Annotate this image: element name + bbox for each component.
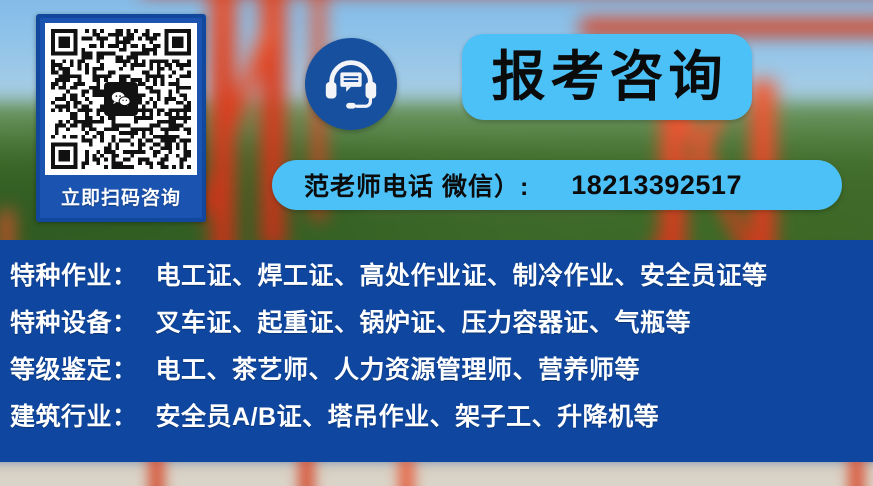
crane-beam bbox=[0, 210, 13, 240]
category-label: 特种作业： bbox=[10, 256, 138, 292]
category-items: 叉车证、起重证、锅炉证、压力容器证、气瓶等 bbox=[138, 303, 692, 339]
contact-pill[interactable]: 范老师电话 微信）: 18213392517 bbox=[272, 160, 842, 210]
headline-text: 报考咨询 bbox=[487, 50, 728, 104]
category-items: 安全员A/B证、塔吊作业、架子工、升降机等 bbox=[138, 397, 660, 433]
background-photo-bottom bbox=[0, 462, 873, 486]
category-row: 等级鉴定： 电工、茶艺师、人力资源管理师、营养师等 bbox=[0, 350, 873, 397]
crane-beam bbox=[300, 462, 313, 486]
category-row: 特种作业： 电工证、焊工证、高处作业证、制冷作业、安全员证等 bbox=[0, 256, 873, 303]
category-items: 电工证、焊工证、高处作业证、制冷作业、安全员证等 bbox=[138, 256, 768, 292]
contact-label: 范老师电话 微信）: bbox=[272, 167, 529, 203]
contact-phone-number[interactable]: 18213392517 bbox=[529, 170, 742, 201]
category-label: 等级鉴定： bbox=[10, 350, 138, 386]
qr-code-image[interactable] bbox=[45, 23, 197, 175]
wechat-logo-icon bbox=[104, 82, 138, 116]
category-row: 建筑行业： 安全员A/B证、塔吊作业、架子工、升降机等 bbox=[0, 397, 873, 444]
promo-poster: 立即扫码咨询 报考咨询 范老师电话 微信）: 18213392517 bbox=[0, 0, 873, 486]
crane-beam bbox=[150, 462, 163, 486]
qr-caption: 立即扫码咨询 bbox=[61, 183, 181, 210]
category-items: 电工、茶艺师、人力资源管理师、营养师等 bbox=[138, 350, 641, 386]
crane-beam bbox=[850, 462, 863, 486]
ground-layer bbox=[0, 462, 873, 486]
qr-code-card[interactable]: 立即扫码咨询 bbox=[36, 14, 206, 222]
headset-support-badge bbox=[305, 38, 397, 130]
headline-pill: 报考咨询 bbox=[462, 34, 752, 120]
headset-support-icon bbox=[320, 51, 382, 118]
category-label: 建筑行业： bbox=[10, 397, 138, 433]
crane-beam bbox=[400, 462, 413, 486]
course-categories-panel: 特种作业： 电工证、焊工证、高处作业证、制冷作业、安全员证等 特种设备： 叉车证… bbox=[0, 240, 873, 462]
category-row: 特种设备： 叉车证、起重证、锅炉证、压力容器证、气瓶等 bbox=[0, 303, 873, 350]
category-label: 特种设备： bbox=[10, 303, 138, 339]
